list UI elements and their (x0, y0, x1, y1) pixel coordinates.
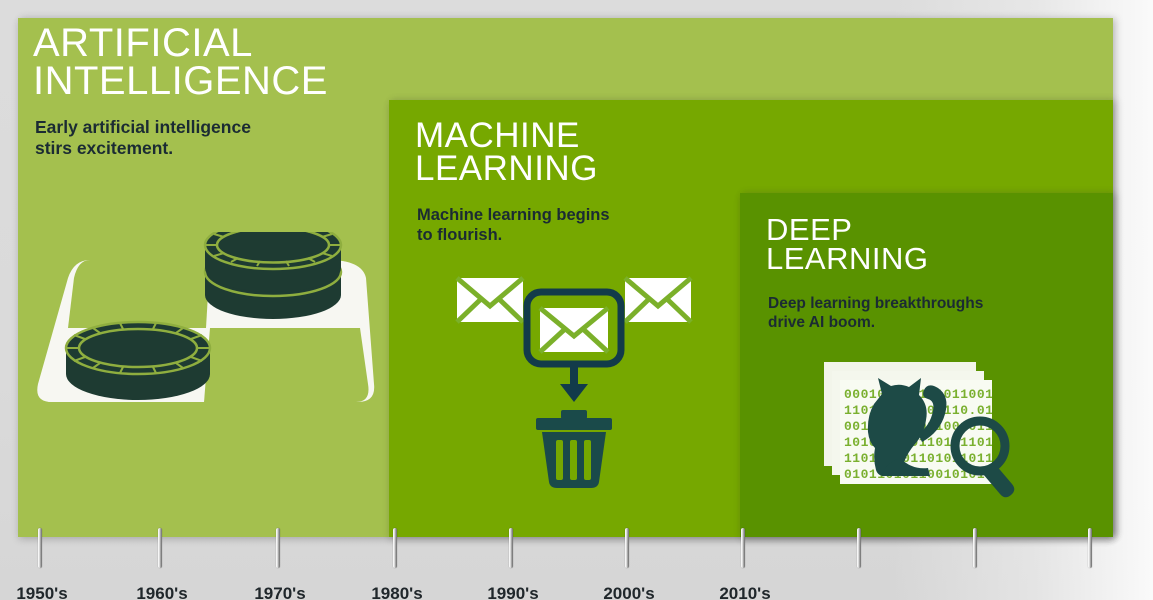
timeline-label-2000s: 2000's (603, 584, 654, 600)
timeline-label-1990s: 1990's (487, 584, 538, 600)
timeline-tick (158, 528, 162, 568)
panel-title-machine-learning: MACHINE LEARNING (415, 119, 598, 186)
timeline-label-1980s: 1980's (371, 584, 422, 600)
timeline-axis: 1950's 1960's 1970's 1980's 1990's 2000'… (0, 520, 1153, 600)
timeline-tick (973, 528, 977, 568)
email-spam-filter-illustration (443, 268, 705, 490)
timeline-label-2010s: 2010's (719, 584, 770, 600)
trash-can-icon (536, 410, 612, 488)
checkers-board-icon (28, 232, 380, 410)
envelope-selected-icon (527, 292, 621, 364)
timeline-tick (857, 528, 861, 568)
timeline-tick (1088, 528, 1092, 568)
panel-subtitle-deep-learning: Deep learning breakthroughs drive AI boo… (768, 295, 983, 333)
timeline-label-1970s: 1970's (254, 584, 305, 600)
deep-learning-illustration: 00010110010101100100 110101101100110.011… (812, 358, 1044, 500)
arrow-down-icon (560, 364, 588, 402)
panel-subtitle-machine-learning: Machine learning begins to flourish. (417, 205, 610, 245)
timeline-tick (509, 528, 513, 568)
timeline-label-1950s: 1950's (16, 584, 67, 600)
timeline-tick (625, 528, 629, 568)
spam-filter-icon (443, 268, 705, 490)
timeline-tick (741, 528, 745, 568)
ai-timeline-infographic: ARTIFICIAL INTELLIGENCE Early artificial… (0, 0, 1153, 600)
envelope-left-icon (457, 278, 523, 322)
svg-text:1101011011010110110: 1101011011010110110 (844, 451, 1002, 466)
panel-subtitle-artificial-intelligence: Early artificial intelligence stirs exci… (35, 117, 251, 160)
panel-title-deep-learning: DEEP LEARNING (766, 215, 928, 274)
timeline-label-1960s: 1960's (136, 584, 187, 600)
envelope-right-icon (625, 278, 691, 322)
svg-text:110101101100110.0110: 110101101100110.0110 (844, 403, 1010, 418)
binary-cards-cat-magnifier-icon: 00010110010101100100 110101101100110.011… (812, 358, 1044, 500)
checkers-board-illustration (28, 232, 380, 410)
timeline-tick (393, 528, 397, 568)
timeline-tick (276, 528, 280, 568)
panel-title-artificial-intelligence: ARTIFICIAL INTELLIGENCE (33, 24, 328, 100)
timeline-tick (38, 528, 42, 568)
